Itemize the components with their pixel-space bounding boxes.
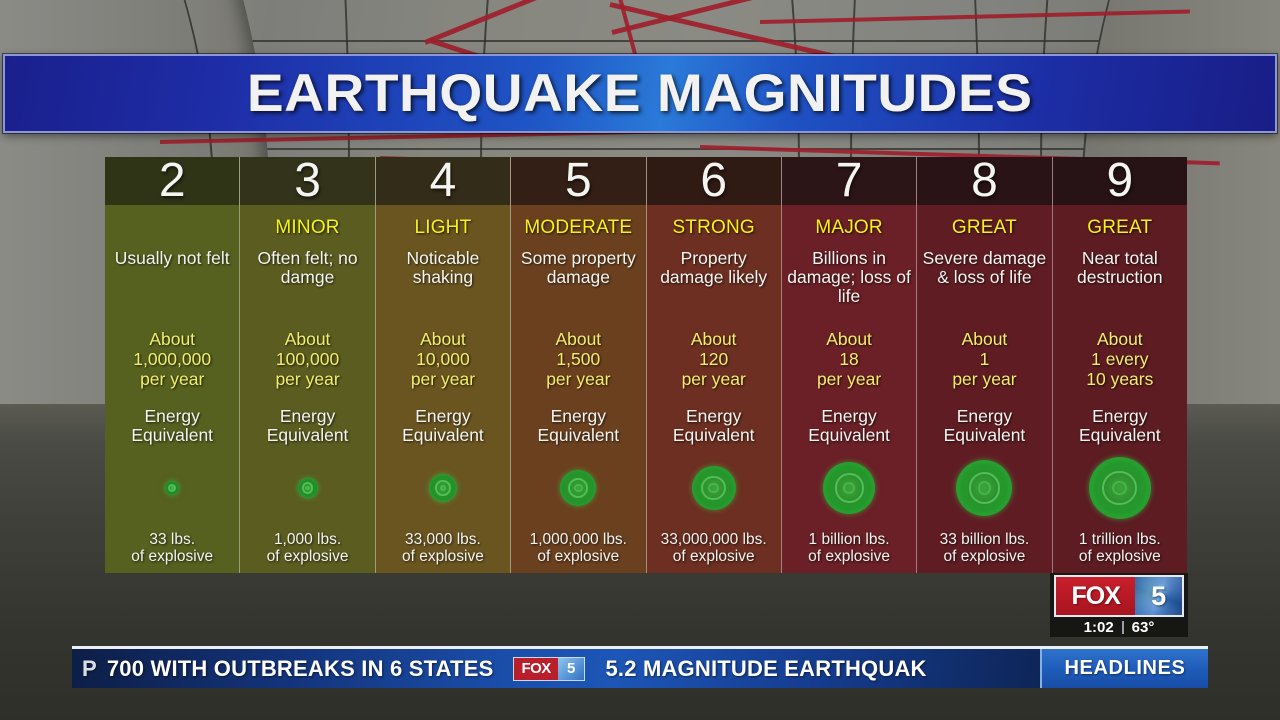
ticker-section-tab[interactable]: HEADLINES <box>1040 649 1208 688</box>
divider <box>1122 621 1124 634</box>
magnitude-column-6: 6STRONGProperty damage likelyAbout120per… <box>647 157 782 573</box>
ticker-scroll-area[interactable]: P 700 WITH OUTBREAKS IN 6 STATES FOX 5 5… <box>72 649 1040 688</box>
ticker-fox-wordmark: FOX <box>514 658 557 680</box>
explosion-circle-icon <box>298 478 318 498</box>
effects-description: Billions in damage; loss of life <box>782 249 916 323</box>
magnitude-number: 6 <box>647 157 781 205</box>
explosion-circle-icon <box>560 470 596 506</box>
fox-text: FOX <box>1071 582 1119 611</box>
earthquake-magnitude-table: 2Usually not feltAbout1,000,000per yearE… <box>105 157 1187 573</box>
explosion-circle-icon <box>823 462 875 514</box>
magnitude-column-9: 9GREATNear total destructionAbout1 every… <box>1053 157 1187 573</box>
magnitude-number: 8 <box>917 157 1051 205</box>
frequency-unit: per year <box>411 369 475 389</box>
frequency-label: About <box>817 329 881 349</box>
energy-equivalent-label: Energy Equivalent <box>647 407 781 445</box>
station-bug: FOX 5 1:02 63° <box>1050 573 1188 637</box>
magnitude-number: 5 <box>511 157 645 205</box>
broadcast-stage: EARTHQUAKE MAGNITUDES 2Usually not feltA… <box>0 0 1280 720</box>
frequency-unit: 10 years <box>1086 369 1153 389</box>
explosive-unit: of explosive <box>661 548 767 565</box>
frequency-value: 18 <box>817 349 881 369</box>
ticker-headline-2: 5.2 MAGNITUDE EARTHQUAK <box>605 656 926 682</box>
effects-description: Often felt; no damge <box>240 249 374 323</box>
explosive-unit: of explosive <box>808 548 890 565</box>
frequency-label: About <box>682 329 746 349</box>
magnitude-column-5: 5MODERATESome property damageAbout1,500p… <box>511 157 646 573</box>
energy-equivalent-value: 1 trillion lbs.of explosive <box>1079 531 1161 577</box>
news-ticker: P 700 WITH OUTBREAKS IN 6 STATES FOX 5 5… <box>72 646 1208 688</box>
frequency-value: 1 <box>952 349 1016 369</box>
frequency-unit: per year <box>682 369 746 389</box>
category-label: MODERATE <box>524 213 632 243</box>
frequency-value: 10,000 <box>411 349 475 369</box>
explosive-amount: 1 billion lbs. <box>808 531 890 548</box>
explosive-unit: of explosive <box>131 548 213 565</box>
blast-size-indicator <box>782 445 916 531</box>
energy-equivalent-label: Energy Equivalent <box>105 407 239 445</box>
fox-wordmark: FOX <box>1056 577 1135 615</box>
frequency-value: 1,000,000 <box>133 349 211 369</box>
frequency-block: About120per year <box>682 329 746 393</box>
magnitude-column-7: 7MAJORBillions in damage; loss of lifeAb… <box>782 157 917 573</box>
blast-size-indicator <box>1053 445 1187 531</box>
effects-description: Near total destruction <box>1053 249 1187 323</box>
magnitude-column-body: GREATNear total destructionAbout1 every1… <box>1053 205 1187 577</box>
effects-description: Noticable shaking <box>376 249 510 323</box>
energy-equivalent-label: Energy Equivalent <box>1053 407 1187 445</box>
explosion-circle-icon <box>956 460 1012 516</box>
fox5-logo: FOX 5 <box>1054 575 1184 617</box>
explosive-unit: of explosive <box>530 548 627 565</box>
frequency-unit: per year <box>952 369 1016 389</box>
category-label: MAJOR <box>815 213 883 243</box>
energy-equivalent-value: 33 lbs.of explosive <box>131 531 213 577</box>
explosive-amount: 33,000 lbs. <box>402 531 484 548</box>
clock-time: 1:02 <box>1084 619 1114 636</box>
effects-description: Usually not felt <box>111 249 234 323</box>
frequency-block: About1,500per year <box>546 329 610 393</box>
magnitude-number: 9 <box>1053 157 1187 205</box>
explosive-unit: of explosive <box>267 548 349 565</box>
channel-number: 5 <box>1151 581 1166 612</box>
magnitude-column-body: LIGHTNoticable shakingAbout10,000per yea… <box>376 205 510 577</box>
frequency-label: About <box>133 329 211 349</box>
ticker-channel-number: 5 <box>567 660 575 677</box>
frequency-label: About <box>411 329 475 349</box>
category-label: MINOR <box>275 213 339 243</box>
frequency-block: About1 every10 years <box>1086 329 1153 393</box>
magnitude-column-8: 8GREATSevere damage & loss of lifeAbout1… <box>917 157 1052 573</box>
energy-equivalent-value: 1 billion lbs.of explosive <box>808 531 890 577</box>
explosive-unit: of explosive <box>1079 548 1161 565</box>
frequency-label: About <box>275 329 339 349</box>
frequency-unit: per year <box>817 369 881 389</box>
magnitude-number: 4 <box>376 157 510 205</box>
explosive-amount: 33 billion lbs. <box>940 531 1030 548</box>
explosion-circle-icon <box>1089 457 1151 519</box>
category-label: LIGHT <box>414 213 471 243</box>
magnitude-column-body: STRONGProperty damage likelyAbout120per … <box>647 205 781 577</box>
explosion-circle-icon <box>165 481 179 495</box>
frequency-block: About100,000per year <box>275 329 339 393</box>
frequency-block: About1,000,000per year <box>133 329 211 393</box>
bug-meta: 1:02 63° <box>1050 617 1188 637</box>
explosive-amount: 1,000 lbs. <box>267 531 349 548</box>
energy-equivalent-label: Energy Equivalent <box>917 407 1051 445</box>
energy-equivalent-label: Energy Equivalent <box>240 407 374 445</box>
magnitude-number: 7 <box>782 157 916 205</box>
frequency-label: About <box>546 329 610 349</box>
ticker-fox5-icon: FOX 5 <box>513 657 585 681</box>
blast-size-indicator <box>511 445 645 531</box>
blast-size-indicator <box>376 445 510 531</box>
explosive-amount: 33 lbs. <box>131 531 213 548</box>
magnitude-column-body: Usually not feltAbout1,000,000per yearEn… <box>105 205 239 577</box>
category-label: GREAT <box>1087 213 1152 243</box>
channel-number-badge: 5 <box>1135 577 1182 615</box>
effects-description: Severe damage & loss of life <box>917 249 1051 323</box>
frequency-block: About10,000per year <box>411 329 475 393</box>
category-label: GREAT <box>952 213 1017 243</box>
frequency-label: About <box>952 329 1016 349</box>
frequency-value: 120 <box>682 349 746 369</box>
category-label: STRONG <box>672 213 754 243</box>
energy-equivalent-label: Energy Equivalent <box>511 407 645 445</box>
effects-description: Property damage likely <box>647 249 781 323</box>
frequency-value: 100,000 <box>275 349 339 369</box>
energy-equivalent-value: 33,000 lbs.of explosive <box>402 531 484 577</box>
ticker-lead-fragment: P <box>72 656 97 682</box>
energy-equivalent-value: 1,000 lbs.of explosive <box>267 531 349 577</box>
energy-equivalent-value: 1,000,000 lbs.of explosive <box>530 531 627 577</box>
magnitude-column-body: MINOROften felt; no damgeAbout100,000per… <box>240 205 374 577</box>
frequency-value: 1,500 <box>546 349 610 369</box>
magnitude-column-4: 4LIGHTNoticable shakingAbout10,000per ye… <box>376 157 511 573</box>
temperature-reading: 63° <box>1132 619 1155 636</box>
energy-equivalent-label: Energy Equivalent <box>782 407 916 445</box>
blast-size-indicator <box>647 445 781 531</box>
explosive-amount: 33,000,000 lbs. <box>661 531 767 548</box>
explosion-circle-icon <box>692 466 736 510</box>
blast-size-indicator <box>240 445 374 531</box>
magnitude-column-body: GREATSevere damage & loss of lifeAbout1p… <box>917 205 1051 577</box>
frequency-unit: per year <box>275 369 339 389</box>
effects-description: Some property damage <box>511 249 645 323</box>
blast-size-indicator <box>105 445 239 531</box>
explosion-circle-icon <box>429 474 457 502</box>
magnitude-column-3: 3MINOROften felt; no damgeAbout100,000pe… <box>240 157 375 573</box>
frequency-label: About <box>1086 329 1153 349</box>
energy-equivalent-value: 33 billion lbs.of explosive <box>940 531 1030 577</box>
title-banner: EARTHQUAKE MAGNITUDES <box>3 54 1277 133</box>
explosive-amount: 1,000,000 lbs. <box>530 531 627 548</box>
ticker-channel-badge: 5 <box>558 658 585 680</box>
blast-size-indicator <box>917 445 1051 531</box>
frequency-value: 1 every <box>1086 349 1153 369</box>
frequency-block: About18per year <box>817 329 881 393</box>
page-title: EARTHQUAKE MAGNITUDES <box>247 63 1033 124</box>
magnitude-column-body: MAJORBillions in damage; loss of lifeAbo… <box>782 205 916 577</box>
frequency-unit: per year <box>133 369 211 389</box>
ticker-headline-1: 700 WITH OUTBREAKS IN 6 STATES <box>97 656 494 682</box>
explosive-unit: of explosive <box>940 548 1030 565</box>
ticker-fox-text: FOX <box>521 660 550 677</box>
magnitude-column-2: 2Usually not feltAbout1,000,000per yearE… <box>105 157 240 573</box>
explosive-amount: 1 trillion lbs. <box>1079 531 1161 548</box>
magnitude-number: 2 <box>105 157 239 205</box>
magnitude-number: 3 <box>240 157 374 205</box>
frequency-block: About1per year <box>952 329 1016 393</box>
explosive-unit: of explosive <box>402 548 484 565</box>
energy-equivalent-label: Energy Equivalent <box>376 407 510 445</box>
magnitude-column-body: MODERATESome property damageAbout1,500pe… <box>511 205 645 577</box>
frequency-unit: per year <box>546 369 610 389</box>
ticker-section-label: HEADLINES <box>1065 657 1186 680</box>
energy-equivalent-value: 33,000,000 lbs.of explosive <box>661 531 767 577</box>
